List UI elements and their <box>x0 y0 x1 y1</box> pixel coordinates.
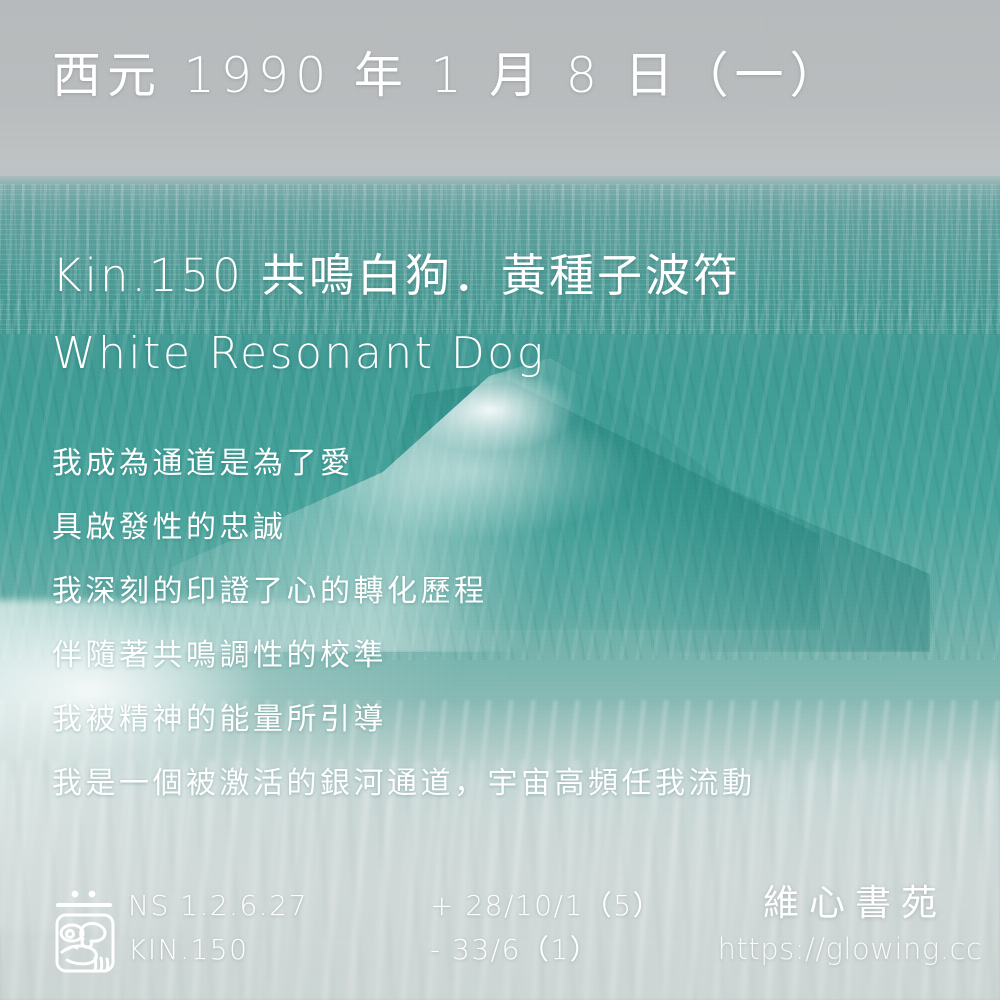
oracle-line: 我被精神的能量所引導 <box>52 688 756 752</box>
ns-kin-block: NS 1.2.6.27 KIN.150 <box>128 884 308 972</box>
brand-url[interactable]: https://glowing.cc <box>716 928 984 970</box>
brand-block: 維心書苑 https://glowing.cc <box>716 880 984 970</box>
card-footer: NS 1.2.6.27 KIN.150 + 28/10/1（5） - 33/6（… <box>0 884 1000 1000</box>
kin-daily-card: 西元 1990 年 1 月 8 日（一） Kin.150 共鳴白狗．黃種子波符 … <box>0 0 1000 1000</box>
oracle-verse-list: 我成為通道是為了愛 具啟發性的忠誠 我深刻的印證了心的轉化歷程 伴隨著共鳴調性的… <box>52 432 756 816</box>
mayan-dog-seal-icon <box>42 888 128 976</box>
oracle-line: 我成為通道是為了愛 <box>52 432 756 496</box>
card-content: 西元 1990 年 1 月 8 日（一） Kin.150 共鳴白狗．黃種子波符 … <box>0 0 1000 1000</box>
kin-label: KIN.150 <box>128 928 308 972</box>
plus-minus-block: + 28/10/1（5） - 33/6（1） <box>430 884 662 972</box>
kin-title-chinese: Kin.150 共鳴白狗．黃種子波符 <box>52 248 741 304</box>
kin-title-english: White Resonant Dog <box>52 326 546 382</box>
minus-label: - 33/6（1） <box>430 928 662 972</box>
plus-label: + 28/10/1（5） <box>430 884 662 928</box>
ns-label: NS 1.2.6.27 <box>128 884 308 928</box>
gregorian-date: 西元 1990 年 1 月 8 日（一） <box>52 46 845 106</box>
oracle-line: 我深刻的印證了心的轉化歷程 <box>52 560 756 624</box>
oracle-line: 具啟發性的忠誠 <box>52 496 756 560</box>
oracle-line: 伴隨著共鳴調性的校準 <box>52 624 756 688</box>
brand-name: 維心書苑 <box>716 880 984 928</box>
oracle-line: 我是一個被激活的銀河通道，宇宙高頻任我流動 <box>52 752 756 816</box>
